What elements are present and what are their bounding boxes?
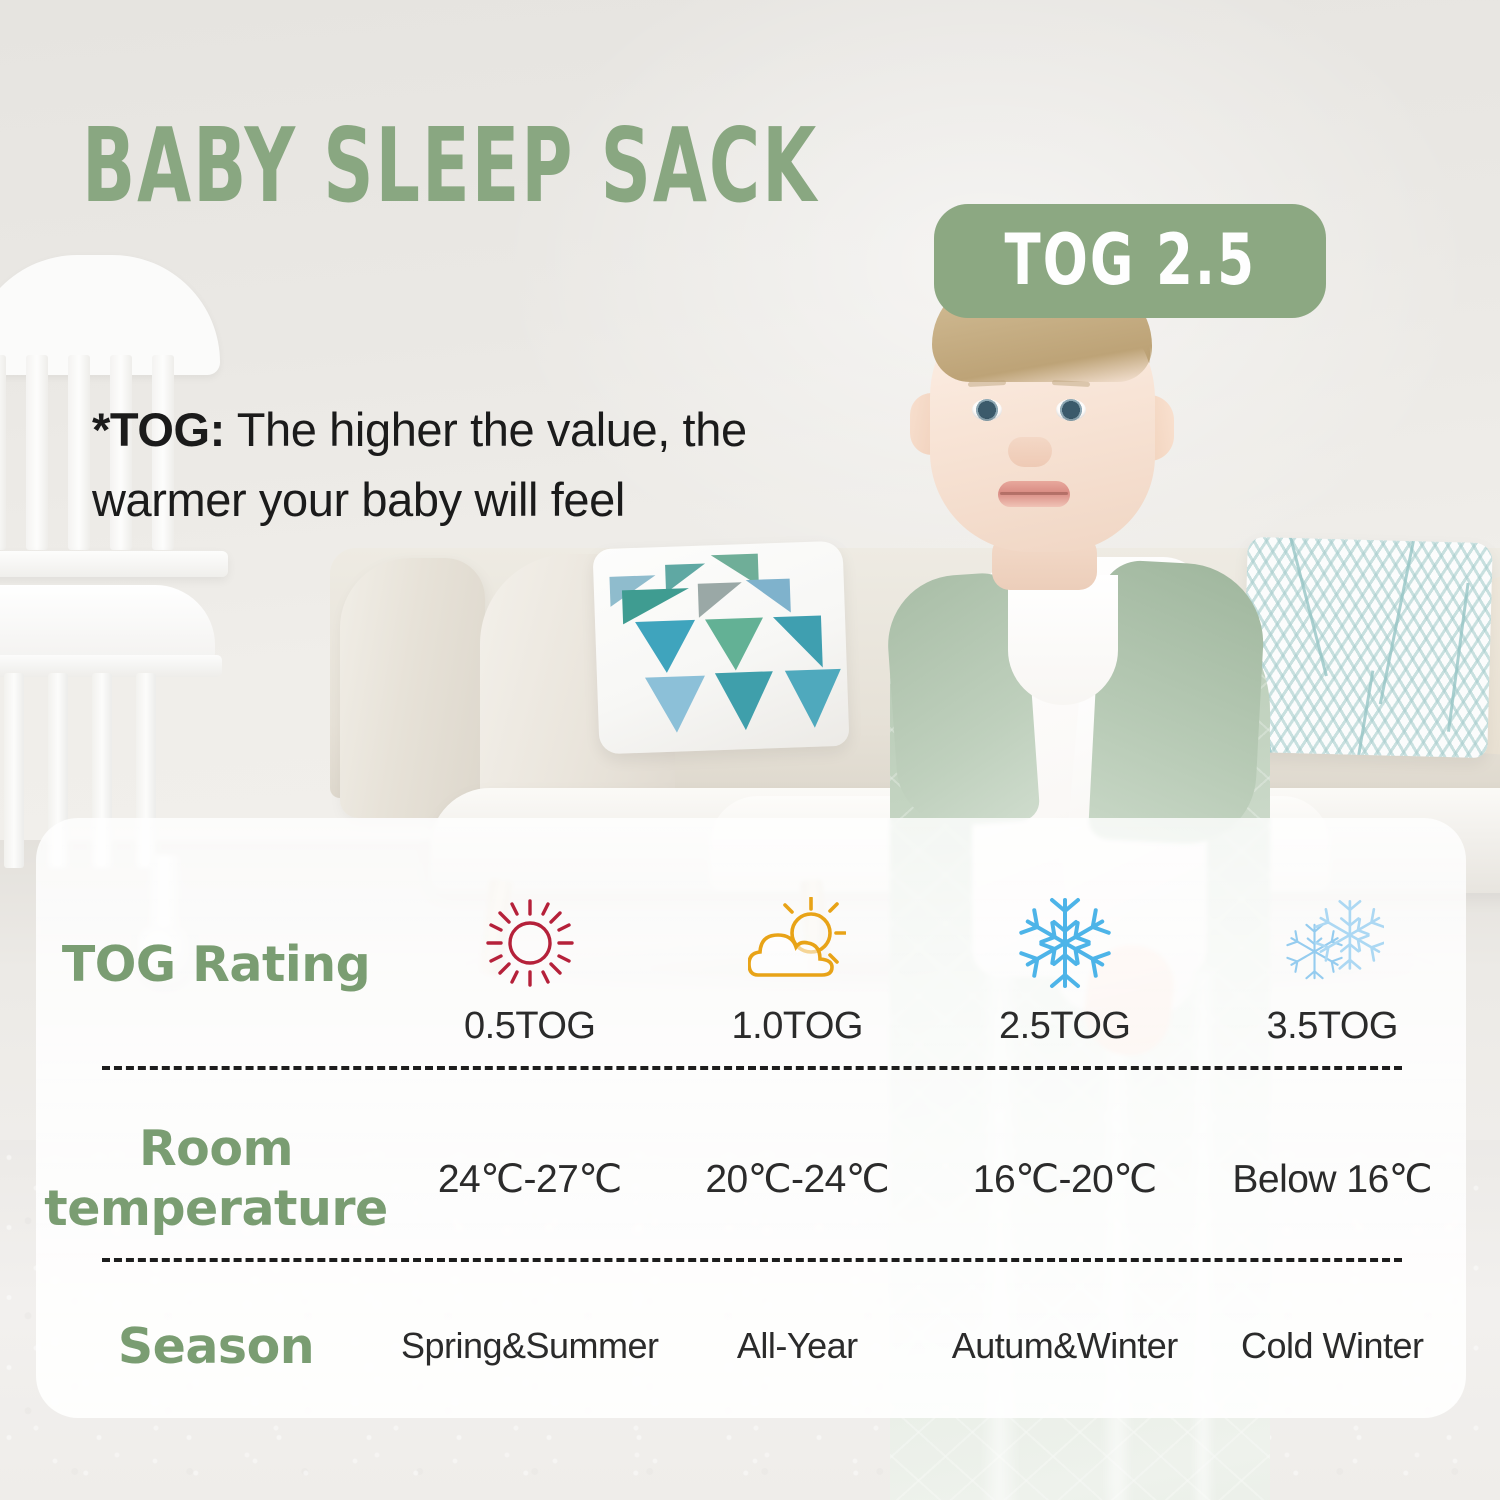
table-divider-1 — [102, 1066, 1402, 1070]
tog-rating-cells: 0.5TOG 1.0TOG 2.5TOG 3.5TOG — [396, 881, 1466, 1048]
tog-comparison-table: TOG Rating — [36, 818, 1466, 1418]
sleep-sack-v-neck — [1008, 575, 1118, 705]
tog-badge: TOG 2.5 — [934, 204, 1326, 318]
tog-value-0: 0.5TOG — [396, 989, 664, 1048]
crib-mattress — [0, 585, 215, 663]
tog-value-2: 2.5TOG — [931, 989, 1199, 1048]
header: BABY SLEEP SACK TOG 2.5 — [0, 96, 1500, 226]
table-row-room-temperature: Room temperature 24℃-27℃ 20℃-24℃ 16℃-20℃… — [36, 1104, 1466, 1254]
baby-nose — [1008, 437, 1052, 467]
table-row-season: Season Spring&Summer All-Year Autum&Wint… — [36, 1296, 1466, 1396]
crib-top-rail — [0, 551, 228, 577]
season-1: All-Year — [664, 1325, 932, 1367]
room-temperature-1: 20℃-24℃ — [664, 1157, 932, 1202]
season-2: Autum&Winter — [931, 1325, 1199, 1367]
room-temperature-0: 24℃-27℃ — [396, 1157, 664, 1202]
sun-icon — [486, 897, 574, 989]
table-row-tog-rating: TOG Rating — [36, 864, 1466, 1064]
sofa-armrest — [340, 558, 485, 818]
page-title: BABY SLEEP SACK — [82, 106, 818, 225]
baby-eye-right — [1056, 399, 1086, 421]
infographic-page: BABY SLEEP SACK TOG 2.5 *TOG: The higher… — [0, 0, 1500, 1500]
tog-icon-cell-0 — [396, 881, 664, 989]
room-temperature-cells: 24℃-27℃ 20℃-24℃ 16℃-20℃ Below 16℃ — [396, 1157, 1466, 1202]
row-label-season: Season — [36, 1318, 396, 1375]
tog-badge-label: TOG 2.5 — [1004, 220, 1256, 302]
double-snowflake-icon — [1280, 897, 1384, 989]
baby-eye-left — [972, 399, 1002, 421]
tog-icon-cell-3 — [1199, 881, 1467, 989]
row-label-room-temperature: Room temperature — [36, 1119, 396, 1239]
snowflake-icon — [1019, 897, 1111, 989]
season-3: Cold Winter — [1199, 1325, 1467, 1367]
sun-behind-cloud-icon — [748, 897, 846, 989]
tog-value-1: 1.0TOG — [664, 989, 932, 1048]
tog-explanation: *TOG: The higher the value, the warmer y… — [92, 395, 882, 535]
tog-explanation-lead: *TOG: — [92, 403, 225, 456]
tog-icon-row — [396, 881, 1466, 989]
tog-icon-cell-2 — [931, 881, 1199, 989]
row-label-tog-rating: TOG Rating — [36, 936, 396, 993]
table-divider-2 — [102, 1258, 1402, 1262]
season-cells: Spring&Summer All-Year Autum&Winter Cold… — [396, 1325, 1466, 1367]
room-temperature-2: 16℃-20℃ — [931, 1157, 1199, 1202]
room-temperature-3: Below 16℃ — [1199, 1157, 1467, 1202]
baby-lip-line — [1000, 492, 1068, 495]
tog-value-row: 0.5TOG 1.0TOG 2.5TOG 3.5TOG — [396, 989, 1466, 1048]
tog-icon-cell-1 — [664, 881, 932, 989]
season-0: Spring&Summer — [396, 1325, 664, 1367]
triangle-pattern-pillow — [592, 541, 849, 755]
tog-value-3: 3.5TOG — [1199, 989, 1467, 1048]
triangle-pattern — [592, 541, 849, 755]
